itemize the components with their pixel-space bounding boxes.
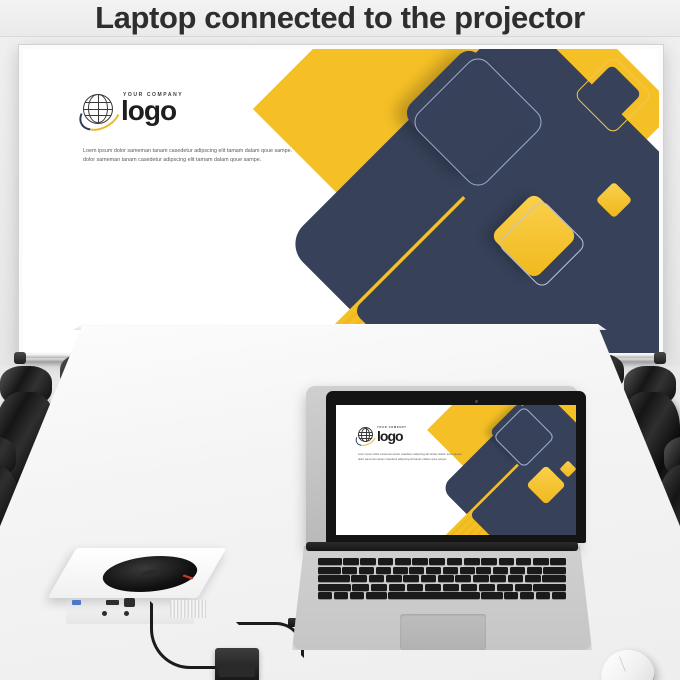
laptop-keyboard[interactable] [318, 558, 566, 606]
laptop-bezel: YOUR COMPANY logo Loem ipsum dolor samem… [326, 391, 586, 543]
keyboard-row[interactable] [318, 575, 566, 582]
laptop-display: YOUR COMPANY logo Loem ipsum dolor samem… [336, 405, 576, 535]
slide-body-line-2: dolor sameman tanam casedetur adipscing … [83, 156, 403, 164]
globe-icon [83, 94, 113, 124]
vga-adapter [215, 648, 259, 680]
mouse-button-divider [619, 656, 626, 671]
port-hdmi [106, 600, 119, 605]
adapter-connector [219, 666, 255, 677]
slide-body-line-1: Loem ipsum dolor sameman tanam casedetur… [83, 147, 403, 155]
lp-logo-word: logo [377, 430, 407, 443]
globe-icon [358, 427, 373, 442]
screen-bar-cap-right [654, 352, 666, 364]
lp-body-line-2: dolor sameman tanam casedetur adipscing … [358, 458, 508, 462]
screen-bar-cap-left [14, 352, 26, 364]
slide-logo: YOUR COMPANY logo [83, 93, 183, 125]
banner-bar: Laptop connected to the projector [0, 0, 680, 37]
laptop: YOUR COMPANY logo Loem ipsum dolor samem… [292, 386, 592, 676]
port-usb [72, 600, 81, 605]
laptop-trackpad[interactable] [400, 614, 486, 650]
keyboard-row[interactable] [318, 567, 566, 574]
port-lan [124, 598, 135, 607]
projection-screen: YOUR COMPANY logo Loem ipsum dolor samem… [18, 44, 664, 358]
keyboard-row[interactable] [318, 584, 566, 591]
projection-screen-surface: YOUR COMPANY logo Loem ipsum dolor samem… [23, 49, 659, 353]
logo-word: logo [121, 98, 183, 125]
webcam-icon [475, 400, 478, 403]
keyboard-row-space[interactable] [318, 592, 566, 599]
laptop-lid: YOUR COMPANY logo Loem ipsum dolor samem… [306, 386, 578, 548]
screenshot-root: Laptop connected to the projector [0, 0, 680, 680]
port-audio [102, 611, 107, 616]
page-title: Laptop connected to the projector [95, 0, 585, 36]
conference-room-scene: YOUR COMPANY logo Loem ipsum dolor samem… [0, 36, 680, 680]
slide-large: YOUR COMPANY logo Loem ipsum dolor samem… [23, 49, 659, 353]
laptop-hinge [306, 542, 578, 551]
lp-body-line-1: Loem ipsum dolor sameman tanam casedetur… [358, 453, 508, 457]
port-power [124, 611, 129, 616]
slide-laptop: YOUR COMPANY logo Loem ipsum dolor samem… [336, 405, 576, 535]
keyboard-row[interactable] [318, 558, 566, 565]
lp-slide-logo: YOUR COMPANY logo [358, 427, 407, 443]
